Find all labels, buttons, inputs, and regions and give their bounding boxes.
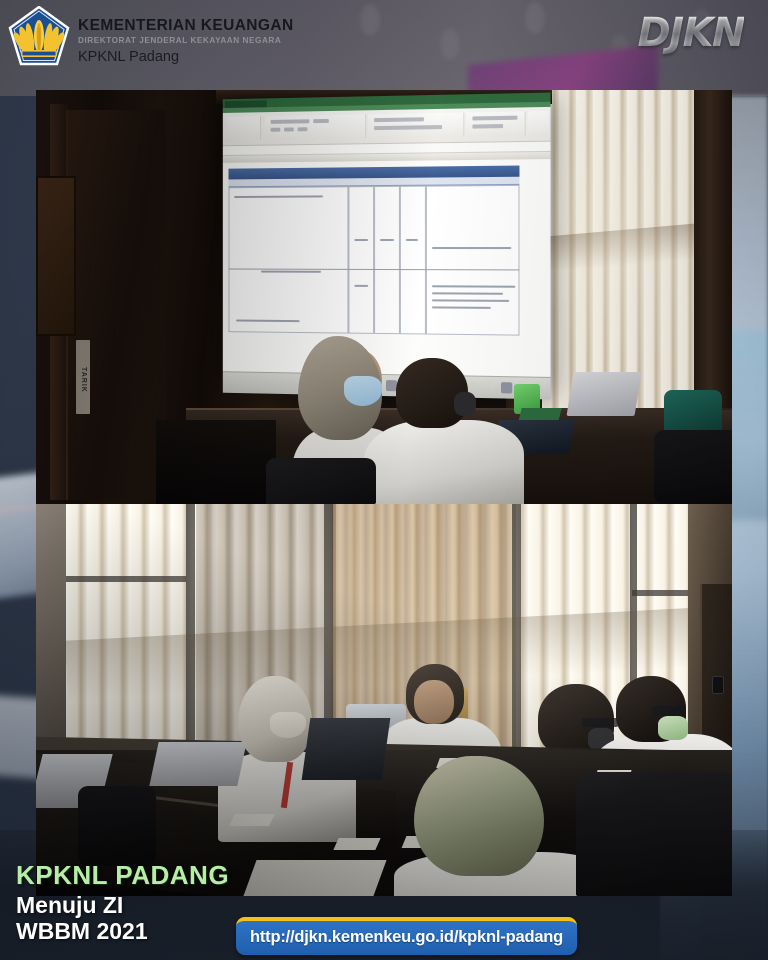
photo-top-shading — [36, 90, 732, 504]
meeting-room-wide-photo — [36, 504, 732, 896]
office-name: KPKNL Padang — [78, 48, 294, 67]
footer-tagline-line2: WBBM 2021 — [16, 918, 148, 944]
kemenkeu-pentagon-logo-icon — [8, 6, 70, 74]
header-title-block: KEMENTERIAN KEUANGAN DIREKTORAT JENDERAL… — [78, 17, 294, 67]
directorate-name: DIREKTORAT JENDERAL KEKAYAAN NEGARA — [78, 34, 294, 47]
footer-tagline-line1: Menuju ZI — [16, 892, 123, 918]
website-url-badge[interactable]: http://djkn.kemenkeu.go.id/kpknl-padang — [236, 917, 577, 955]
meeting-room-projector-photo: TARIK — [36, 90, 732, 504]
website-url-text: http://djkn.kemenkeu.go.id/kpknl-padang — [250, 928, 563, 946]
ministry-name: KEMENTERIAN KEUANGAN — [78, 17, 294, 34]
footer-bar: KPKNL PADANG Menuju ZI WBBM 2021 http://… — [0, 850, 768, 960]
djkn-wordmark-icon: DJKN — [637, 10, 744, 56]
footer-organization: KPKNL PADANG — [16, 860, 229, 891]
photo-bottom-shading — [36, 504, 732, 896]
header-bar: KEMENTERIAN KEUANGAN DIREKTORAT JENDERAL… — [0, 0, 768, 92]
